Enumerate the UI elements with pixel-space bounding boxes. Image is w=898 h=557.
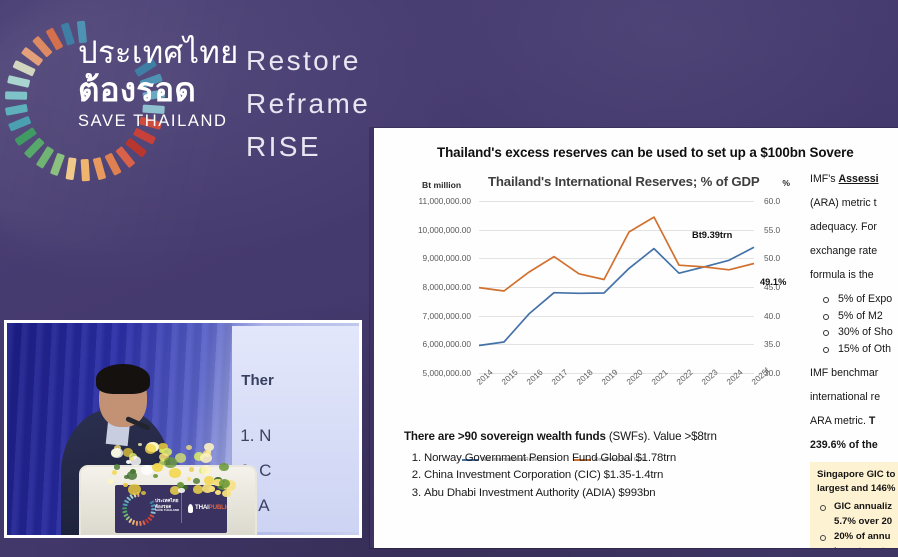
chart-y2-tick: 60.0	[764, 196, 806, 206]
swf-list-item: Abu Dhabi Investment Authority (ADIA) $9…	[424, 485, 804, 502]
imf-bullet: 30% of Sho	[822, 324, 898, 340]
swf-list: Norway Government Pension Fund Global $1…	[424, 450, 804, 502]
flower-petal	[193, 478, 200, 484]
flower-petal	[215, 490, 221, 495]
flower-petal	[138, 443, 142, 446]
imf-ara-bullets: 5% of Expo5% of M230% of Sho15% of Oth	[822, 291, 898, 357]
podium-logo-thai1: ประเทศไทย	[155, 498, 179, 504]
chart-y2-tick: 50.0	[764, 253, 806, 263]
imf-para-8-bold: T	[869, 415, 875, 427]
ring-segment	[122, 503, 127, 506]
chart-line-reserves	[479, 247, 754, 345]
presentation-slide: Thailand's excess reserves can be used t…	[370, 128, 898, 548]
brand-block: ประเทศไทย ต้องรอด SAVE THAILAND	[78, 38, 239, 134]
gic-bullet: GIC annualiz5.7% over 20	[819, 500, 898, 530]
chart-y2-tick: 40.0	[764, 311, 806, 321]
imf-para-3: adequacy. For	[810, 220, 898, 236]
swf-list-item: China Investment Corporation (CIC) $1.35…	[424, 467, 804, 484]
ring-segment	[60, 22, 74, 45]
chart-y-tick: 5,000,000.00	[397, 368, 471, 378]
chart-series-svg	[479, 201, 754, 373]
ring-segment	[122, 507, 127, 509]
ring-segment	[92, 156, 106, 179]
imf-para-8: ARA metric. T	[810, 414, 898, 430]
flower-petal	[187, 477, 191, 481]
flower-petal	[112, 470, 117, 475]
flower-arrangement	[107, 441, 231, 497]
flower-petal	[111, 448, 122, 458]
chart-y-tick: 8,000,000.00	[397, 282, 471, 292]
gic-line-2: largest and 146%	[817, 482, 898, 496]
chart-y-tick: 9,000,000.00	[397, 253, 471, 263]
chart-y2-tick: 55.0	[764, 225, 806, 235]
imf-para-9: 239.6% of the	[810, 438, 898, 454]
imf-para-4: exchange rate	[810, 244, 898, 260]
gic-bullet: 20% of annuinvestment r	[819, 530, 898, 548]
flower-petal	[186, 445, 192, 450]
podium-brand-prefix: THAI	[195, 504, 209, 511]
imf-para-8-pre: ARA metric.	[810, 415, 869, 427]
flower-petal	[145, 444, 157, 454]
chart-plot-area: 5,000,000.006,000,000.007,000,000.008,00…	[479, 201, 754, 373]
chart-header: Thailand's International Reserves; % of …	[488, 174, 760, 189]
swf-list-item: Norway Government Pension Fund Global $1…	[424, 450, 804, 467]
speaker-video-thumbnail[interactable]: Ther 1. N 2. C 3. A ประเทศไทย ต้องรอด SA…	[4, 320, 362, 538]
video-slide-heading: Ther	[241, 372, 274, 389]
rrr-line-reframe: Reframe	[246, 83, 370, 126]
ring-segment	[4, 103, 27, 115]
flower-petal	[200, 453, 212, 464]
gic-bullet-line: 20% of annu	[834, 530, 898, 545]
imf-para-2: (ARA) metric t	[810, 196, 898, 212]
swf-headline-bold: There are >90 sovereign wealth funds	[404, 430, 606, 443]
speaker-hair	[96, 364, 150, 394]
chart-y2-axis-title: %	[782, 178, 790, 188]
flower-petal	[219, 463, 229, 471]
gic-bullet-line: 5.7% over 20	[834, 515, 898, 530]
brand-thai-line1: ประเทศไทย	[78, 38, 239, 69]
rrr-line-restore: Restore	[246, 40, 370, 83]
podium-sign-divider	[181, 493, 182, 523]
video-slide-item-1: 1. N	[240, 426, 271, 446]
flower-petal	[189, 467, 195, 472]
gic-bullet-line: investment r	[834, 545, 898, 548]
podium-brand-suffix: PUBLICA	[209, 504, 227, 511]
flower-petal	[130, 469, 136, 474]
chart-y2-tick: 35.0	[764, 339, 806, 349]
restore-reframe-rise: Restore Reframe RISE	[246, 40, 370, 168]
chart-y-tick: 7,000,000.00	[397, 311, 471, 321]
gic-line-1: Singapore GIC to	[817, 468, 898, 482]
gic-callout-box: Singapore GIC to largest and 146% GIC an…	[810, 462, 898, 548]
flower-petal	[123, 483, 128, 487]
flower-petal	[107, 479, 113, 484]
imf-bullet: 15% of Oth	[822, 341, 898, 357]
flower-petal	[169, 468, 180, 478]
brand-english-sub: SAVE THAILAND	[78, 110, 239, 134]
podium-logo-text: ประเทศไทย ต้องรอด SAVE THAILAND	[155, 498, 179, 513]
imf-para-6: IMF benchmar	[810, 366, 898, 382]
flower-petal	[141, 491, 146, 495]
slide-title: Thailand's excess reserves can be used t…	[437, 145, 898, 160]
ring-segment	[5, 91, 27, 99]
imf-para-1: IMF's Assessi	[810, 172, 898, 188]
brand-thai-line2: ต้องรอด	[78, 69, 239, 110]
ring-segment	[7, 75, 30, 88]
gic-bullets: GIC annualiz5.7% over 2020% of annuinves…	[819, 500, 898, 548]
flower-petal	[128, 484, 140, 494]
flower-petal	[178, 488, 185, 494]
flower-petal	[153, 474, 158, 479]
imf-right-column: IMF's Assessi (ARA) metric t adequacy. F…	[810, 172, 898, 548]
imf-para-1-underline: Assessi	[839, 173, 879, 185]
imf-para-7: international re	[810, 390, 898, 406]
imf-bullet: 5% of Expo	[822, 291, 898, 307]
gic-bullet-line: GIC annualiz	[834, 500, 898, 515]
flower-petal	[222, 490, 230, 497]
imf-para-9-bold: 239.6% of the	[810, 439, 878, 451]
ring-segment	[80, 158, 89, 180]
imf-para-5: formula is the	[810, 268, 898, 284]
imf-para-1-pre: IMF's	[810, 173, 839, 185]
flower-petal	[164, 457, 177, 468]
chart-y-axis-title: Bt million	[422, 180, 461, 190]
rrr-line-rise: RISE	[246, 126, 370, 169]
chart-annotation: 49.1%	[760, 277, 786, 287]
podium-pin-icon	[188, 504, 193, 513]
flower-petal	[126, 460, 131, 464]
chart-y-tick: 10,000,000.00	[397, 225, 471, 235]
swf-headline-rest: (SWFs). Value >$8trn	[606, 430, 717, 443]
imf-bullet: 5% of M2	[822, 308, 898, 324]
chart-annotation: Bt9.39trn	[692, 230, 732, 240]
swf-block: There are >90 sovereign wealth funds (SW…	[404, 430, 804, 502]
chart-y-tick: 6,000,000.00	[397, 339, 471, 349]
ring-segment	[12, 60, 35, 77]
podium-logo-sub: SAVE THAILAND	[155, 509, 179, 513]
swf-headline: There are >90 sovereign wealth funds (SW…	[404, 430, 804, 443]
ring-segment	[49, 152, 64, 175]
ring-segment	[8, 115, 31, 131]
podium-brand: THAIPUBLICA	[195, 504, 227, 511]
flower-petal	[114, 464, 120, 469]
flower-petal	[201, 465, 212, 474]
ring-segment	[136, 521, 139, 526]
ring-segment	[65, 157, 76, 180]
chart-y-tick: 11,000,000.00	[397, 196, 471, 206]
